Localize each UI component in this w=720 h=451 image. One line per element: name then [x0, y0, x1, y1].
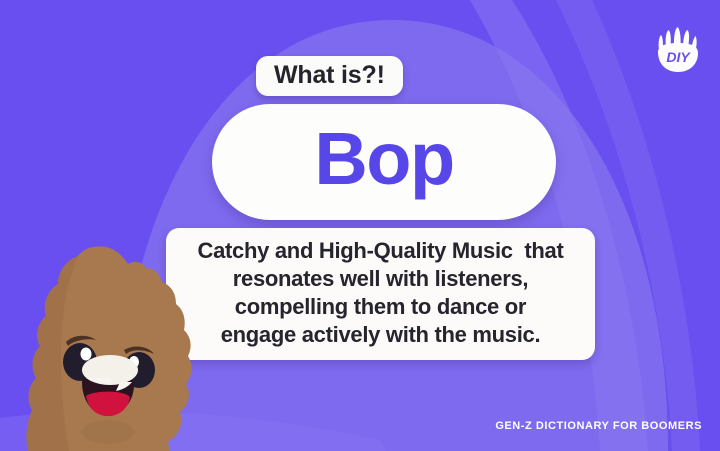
definition-line: engage actively with the music. [180, 321, 581, 349]
definition-line: Catchy and High-Quality Music that [180, 237, 581, 265]
definition-line: resonates well with listeners, [180, 265, 581, 293]
logo-text: DIY [666, 49, 691, 65]
paw-claw-icon: DIY [652, 26, 704, 76]
what-is-label: What is?! [274, 61, 385, 89]
mascot-illustration [24, 246, 210, 451]
definition-box: Catchy and High-Quality Music that reson… [166, 228, 595, 360]
term-label: Bop [314, 122, 453, 202]
furry-mascot [24, 246, 210, 451]
word-of-the-day-card: DIY What is?! Bop Catchy and High-Qualit… [0, 0, 720, 451]
definition-line: compelling them to dance or [180, 293, 581, 321]
footer-caption: GEN-Z DICTIONARY FOR BOOMERS [495, 420, 702, 432]
term-pill: Bop [212, 104, 556, 220]
diy-paw-logo[interactable]: DIY [652, 26, 704, 76]
what-is-bubble: What is?! [256, 56, 403, 96]
